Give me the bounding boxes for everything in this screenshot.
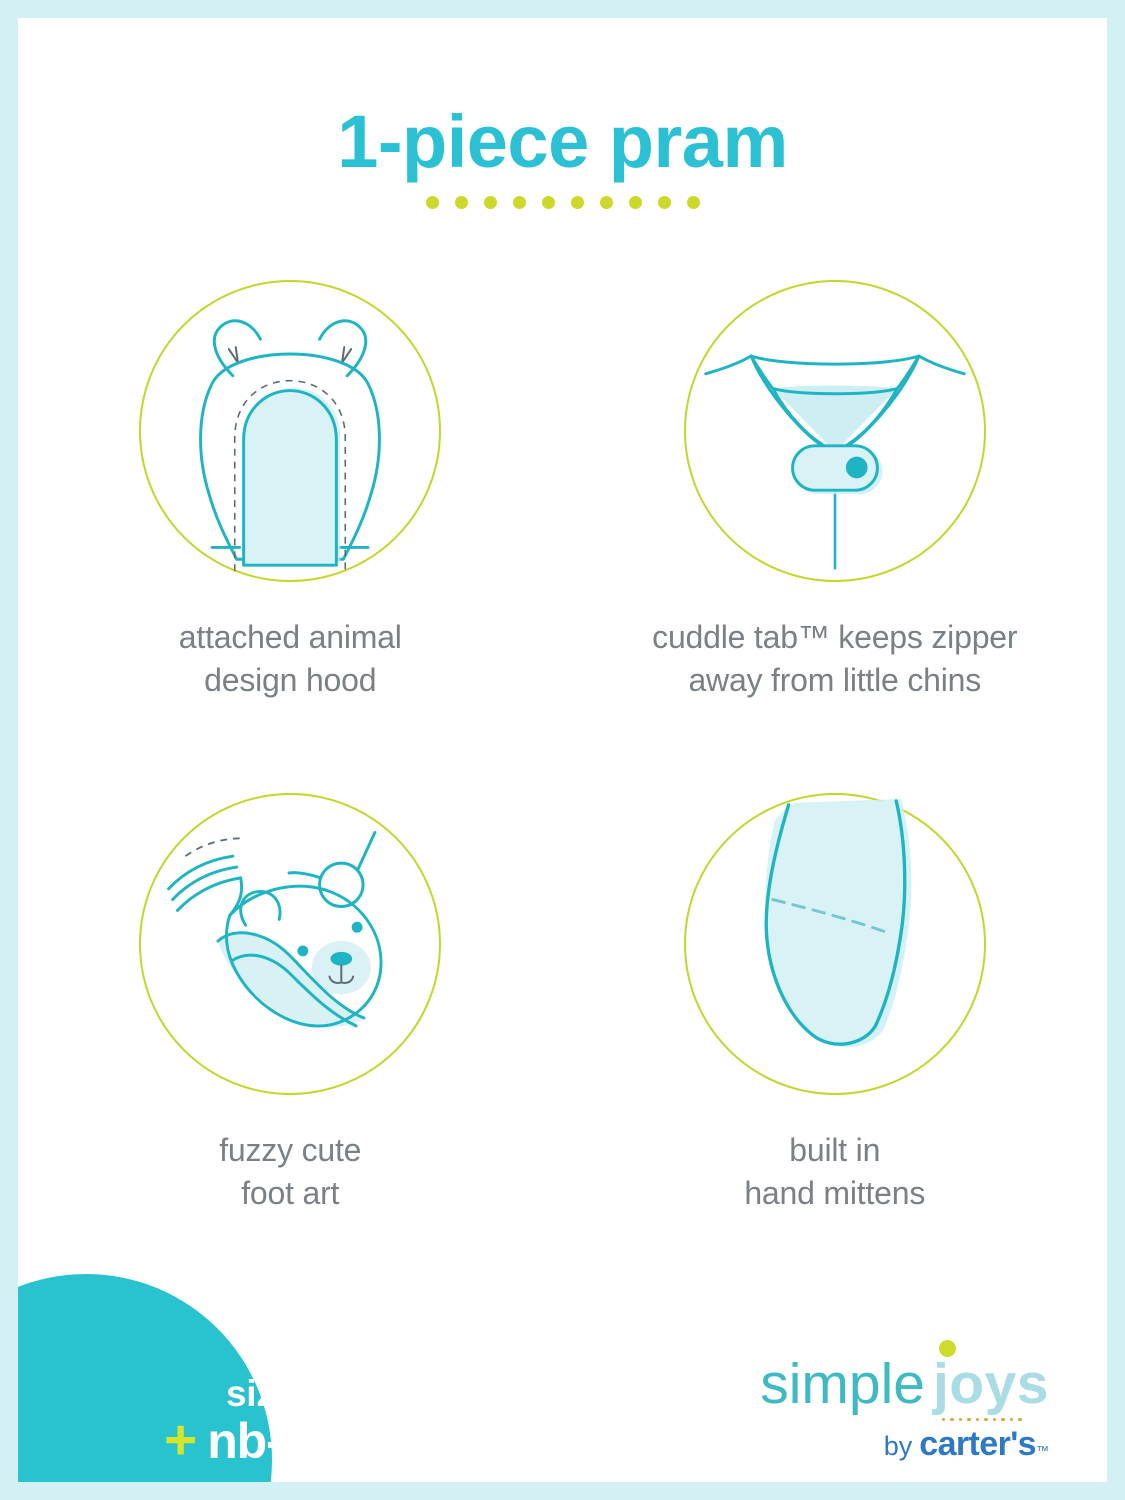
feature-grid: attached animaldesign hood xyxy=(18,280,1107,1214)
brand-mini-dot xyxy=(1010,1418,1014,1422)
divider-dot xyxy=(658,196,671,209)
sizes-value: nb-9m xyxy=(207,1416,351,1466)
feature-item-cuddle-tab: cuddle tab™ keeps zipperaway from little… xyxy=(563,280,1108,701)
divider-dot xyxy=(484,196,497,209)
caption-line-1: built in xyxy=(789,1132,880,1168)
sizes-plus-sign: + xyxy=(164,1412,197,1469)
brand-accent-dot-icon xyxy=(939,1340,956,1357)
caption-line-1: fuzzy cute xyxy=(219,1132,361,1168)
page-title: 1-piece pram xyxy=(18,103,1107,181)
sizes-value-group: + nb-9m xyxy=(164,1412,351,1469)
brand-word-joys: joys xyxy=(933,1352,1049,1416)
divider-dot xyxy=(455,196,468,209)
brand-mini-dot xyxy=(942,1418,946,1422)
divider-dot xyxy=(513,196,526,209)
feature-caption: fuzzy cutefoot art xyxy=(219,1129,361,1214)
brand-mini-dot xyxy=(984,1418,988,1422)
divider-dot xyxy=(571,196,584,209)
brand-mini-dot xyxy=(950,1418,954,1422)
bear-foot-art-icon xyxy=(139,793,441,1095)
divider-dot xyxy=(687,196,700,209)
caption-line-2: design hood xyxy=(204,662,376,698)
brand-logo: simple joys xyxy=(760,1356,1049,1461)
sizes-label: sizes xyxy=(226,1373,315,1415)
brand-logo-secondary: by carter's ™ xyxy=(760,1427,1049,1461)
brand-underline-dots xyxy=(942,1418,1022,1422)
caption-line-2: hand mittens xyxy=(744,1175,925,1211)
brand-mini-dot xyxy=(1001,1418,1005,1422)
feature-item-hood: attached animaldesign hood xyxy=(18,280,563,701)
divider-dot xyxy=(426,196,439,209)
brand-word-simple: simple xyxy=(760,1356,925,1413)
divider-dot xyxy=(600,196,613,209)
brand-word-joys-group: joys xyxy=(933,1356,1049,1413)
hand-mitten-icon xyxy=(684,793,986,1095)
feature-caption: attached animaldesign hood xyxy=(179,616,402,701)
brand-mini-dot xyxy=(1018,1418,1022,1422)
feature-item-foot-art: fuzzy cutefoot art xyxy=(18,793,563,1214)
cuddle-tab-collar-icon xyxy=(684,280,986,582)
feature-caption: cuddle tab™ keeps zipperaway from little… xyxy=(652,616,1017,701)
divider-dot xyxy=(629,196,642,209)
infographic-page: 1-piece pram xyxy=(0,0,1125,1500)
caption-line-1: attached animal xyxy=(179,619,402,655)
caption-line-2: away from little chins xyxy=(688,662,981,698)
feature-caption: built inhand mittens xyxy=(744,1129,925,1214)
brand-mini-dot xyxy=(976,1418,980,1422)
feature-item-mittens: built inhand mittens xyxy=(563,793,1108,1214)
bear-hood-icon xyxy=(139,280,441,582)
caption-line-1: cuddle tab™ keeps zipper xyxy=(652,619,1017,655)
caption-line-2: foot art xyxy=(241,1175,339,1211)
brand-logo-primary: simple joys xyxy=(760,1356,1049,1413)
divider-dot xyxy=(542,196,555,209)
brand-trademark-symbol: ™ xyxy=(1036,1444,1049,1457)
brand-word-carters: carter's xyxy=(919,1427,1036,1461)
title-divider-dots xyxy=(18,196,1107,209)
brand-mini-dot xyxy=(959,1418,963,1422)
infographic-card: 1-piece pram xyxy=(18,18,1107,1482)
brand-word-by: by xyxy=(884,1433,913,1460)
brand-mini-dot xyxy=(967,1418,971,1422)
brand-mini-dot xyxy=(993,1418,997,1422)
